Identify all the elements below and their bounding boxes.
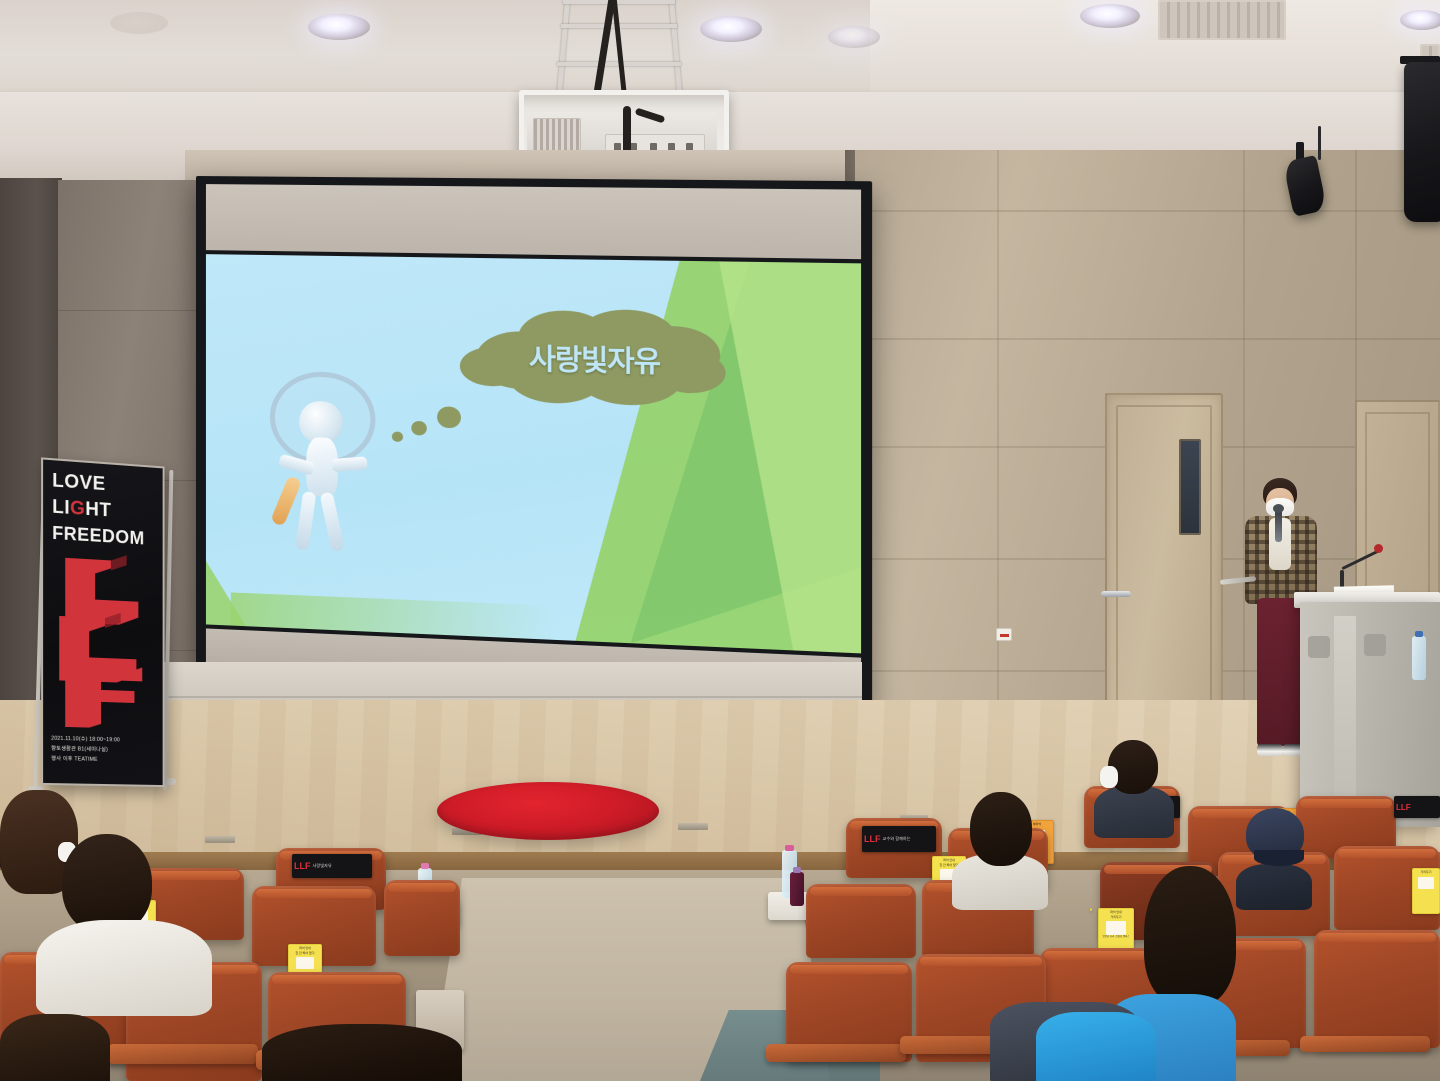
podium-front-pilaster (1334, 616, 1356, 816)
seat-placard-yellow: 거리두기 (1412, 868, 1440, 914)
sticker-llf-mark: LLF (294, 861, 311, 871)
banner-llf-logo (51, 545, 160, 730)
thought-dot-large (437, 406, 460, 428)
banner-light-post: HT (85, 499, 111, 522)
banner-light-highlight: G (70, 498, 85, 520)
sticker-subtitle: 교수와 함께하는 (883, 836, 911, 842)
figure-leg-right (320, 492, 345, 552)
mic-capsule (1374, 544, 1383, 553)
cap-brim (1254, 850, 1304, 866)
presenter-shoe-left (1257, 744, 1283, 756)
audience-head (1144, 866, 1236, 1006)
seat-placard-yellow (1090, 908, 1092, 911)
audience-member (1036, 1000, 1156, 1081)
sticker-llf-mark: LLF (1396, 803, 1411, 812)
banner-footer-text: 2021.11.10(수) 18:00~19:00 향토생활관 B1(세미나실)… (51, 735, 161, 767)
screen-blank-top (206, 184, 861, 259)
sticker-subtitle: 사랑빛자유 (313, 863, 332, 869)
sticker-llf-mark: LLF (864, 834, 881, 844)
audience-member (262, 1024, 462, 1081)
handheld-microphone[interactable] (1275, 508, 1282, 542)
microphone-head (1273, 504, 1284, 513)
audience-head (262, 1024, 462, 1081)
banner-light-pre: LI (52, 497, 70, 519)
audience-head (0, 1014, 110, 1081)
seat-armrest (1300, 1036, 1430, 1052)
stage-round-rug (437, 782, 659, 840)
ceiling-downlight (1400, 10, 1440, 30)
seat-llf-sticker: LLF (1394, 796, 1440, 818)
placard-line2: 한 칸 띄어 앉기 (295, 951, 314, 956)
wall-switch-plate[interactable] (996, 628, 1012, 641)
slide-background: 사랑빛자유 (206, 254, 861, 653)
banner-line-light: LIGHT (52, 497, 111, 523)
event-banner: LOVE LIGHT FREEDOM 2021.11.10(수) 18:00~1… (41, 457, 164, 787)
thought-bubble-text: 사랑빛자유 (460, 307, 731, 412)
presenter-trousers (1257, 598, 1305, 746)
audience-face-mask (1100, 766, 1118, 788)
audience-member (36, 834, 212, 1012)
podium-vent-left (1308, 636, 1330, 658)
audience-shoulders (1036, 1012, 1156, 1081)
audience-member (0, 1014, 120, 1081)
ceiling-air-vent (1158, 0, 1286, 40)
audience-head (1108, 740, 1158, 794)
projector-cable (611, 0, 627, 104)
audience-head (970, 792, 1032, 866)
projector-lift-crossbar (563, 0, 675, 4)
magnifier-handle (270, 475, 302, 527)
seat[interactable] (1314, 930, 1440, 1048)
door-vision-window (1179, 439, 1201, 535)
banner-line-love: LOVE (52, 470, 106, 496)
thought-bubble: 사랑빛자유 (460, 307, 731, 412)
speaker-cable (1318, 126, 1321, 160)
seat[interactable] (384, 880, 460, 956)
ceiling-downlight (1080, 4, 1140, 28)
thought-dot-medium (411, 421, 426, 436)
beverage-bottle[interactable] (790, 872, 804, 906)
wall-loudspeaker-right (1404, 62, 1440, 222)
audience-shoulders (36, 920, 212, 1016)
figure-arm-right (331, 457, 367, 473)
audience-member (1094, 740, 1174, 832)
ceiling-downlight (308, 14, 370, 40)
llf-logo-svg (51, 545, 160, 730)
screen-image-area: 사랑빛자유 (206, 254, 861, 653)
seat[interactable] (806, 884, 916, 958)
placard-foot: 안전한 거리, 건강한 캠퍼스 (1103, 935, 1130, 939)
placard-line1: 거리두기 (1420, 870, 1431, 875)
seat-armrest (108, 1044, 258, 1064)
slide-3d-figure-with-magnifier (256, 366, 402, 565)
stage-floor-plate (678, 823, 708, 830)
podium-vent-right (1364, 634, 1386, 656)
audience-member (952, 792, 1048, 900)
seat-llf-sticker: LLF 사랑빛자유 (292, 854, 372, 878)
banner-foot-note: 행사 이후 TEATIME (51, 755, 161, 767)
projector-lift-arm (556, 0, 570, 98)
audience-head (62, 834, 152, 934)
seat-llf-sticker: LLF 교수와 함께하는 (862, 826, 936, 852)
ceiling-downlight (110, 12, 168, 34)
figure-leg-left (295, 491, 316, 551)
door-handle[interactable] (1101, 591, 1131, 597)
projection-screen: 사랑빛자유 (196, 176, 872, 709)
auditorium-scene: 사랑빛자유 (0, 0, 1440, 1081)
ceiling-step (870, 0, 1440, 96)
seat-armrest (766, 1044, 906, 1062)
projector-lift-arm (668, 0, 682, 98)
ceiling-downlight (828, 26, 880, 48)
placard-line1: 거리두기 (1110, 915, 1121, 920)
podium-water-bottle[interactable] (1412, 636, 1426, 680)
